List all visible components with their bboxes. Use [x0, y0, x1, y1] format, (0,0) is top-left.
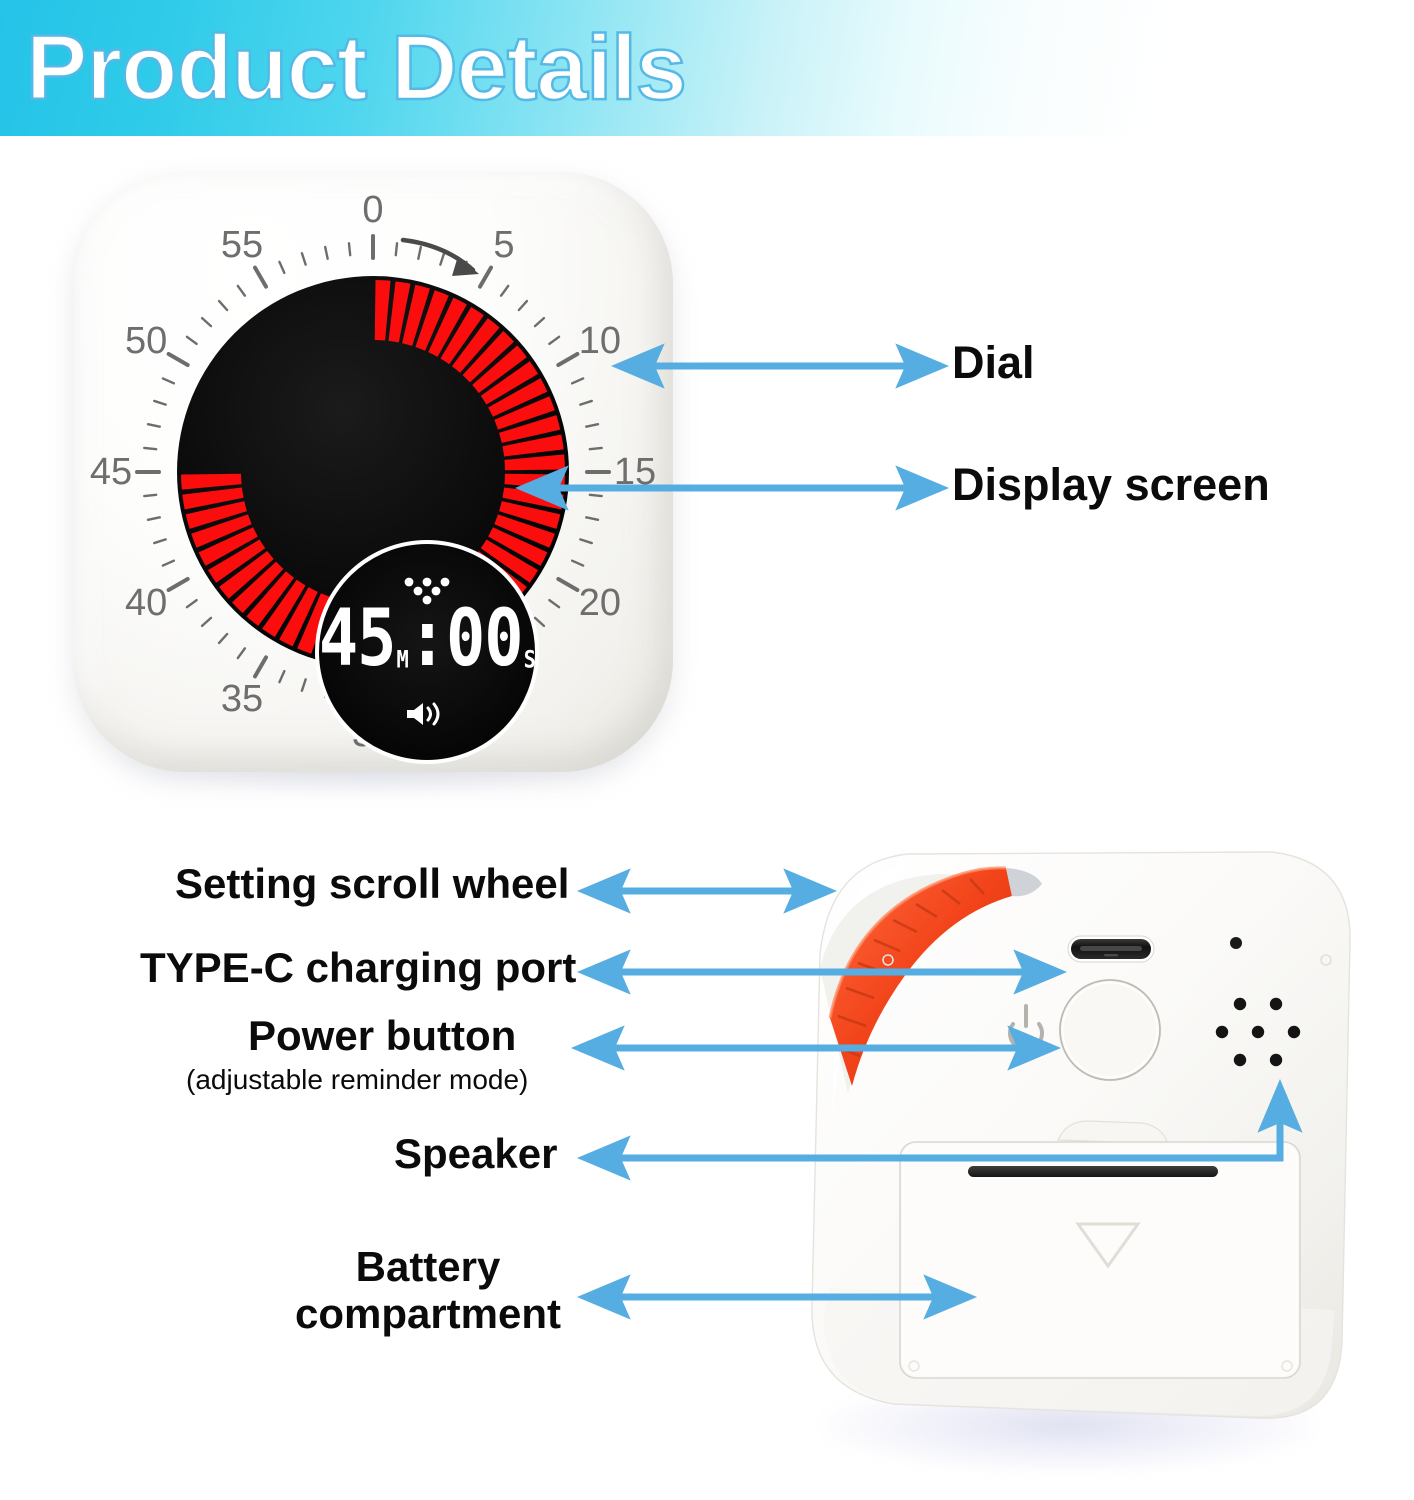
dial-major-tick [255, 268, 266, 287]
dial-minor-tick [154, 401, 165, 405]
lcd-seconds: 00 [446, 600, 523, 678]
callout-label-display-screen: Display screen [952, 461, 1270, 509]
dial-minor-tick [580, 401, 591, 405]
dial-minor-tick [144, 495, 156, 496]
dial-minor-tick [219, 301, 227, 310]
dial-major-tick [558, 579, 577, 590]
callout-label-speaker: Speaker [394, 1132, 557, 1177]
dial-number: 35 [221, 678, 263, 720]
dial-number: 0 [362, 189, 383, 231]
lcd-colon: : [408, 600, 446, 678]
page-header-banner: Product Details [0, 0, 1414, 136]
lcd-minute-unit: M [397, 620, 408, 698]
dial-minor-tick [144, 448, 156, 449]
dial-minor-tick [279, 262, 284, 273]
dial-minor-tick [148, 424, 160, 426]
dial-major-tick [169, 354, 188, 365]
dial-minor-tick [302, 253, 306, 264]
dial-minor-tick [349, 243, 350, 255]
dial-number: 20 [579, 582, 621, 624]
callout-label-scroll-wheel: Setting scroll wheel [175, 862, 569, 907]
dial-minor-tick [279, 671, 284, 682]
dial-minor-tick [238, 286, 245, 296]
dial-minor-tick [440, 253, 444, 264]
dial-minor-tick [549, 337, 559, 344]
dial-minor-tick [590, 448, 602, 449]
dial-minor-tick [219, 634, 227, 643]
dial-major-tick [255, 657, 266, 676]
speaker-volume-icon [403, 699, 451, 729]
back-power-button[interactable] [1060, 980, 1160, 1080]
dial-minor-tick [163, 561, 174, 566]
callout-label-power-button: Power button [248, 1014, 516, 1059]
dial-major-tick [480, 268, 491, 287]
page-title: Product Details [26, 10, 686, 126]
dial-major-tick [169, 579, 188, 590]
callout-label-dial: Dial [952, 339, 1035, 387]
callout-sublabel-power-button: (adjustable reminder mode) [186, 1064, 528, 1096]
dial-number: 5 [493, 224, 514, 266]
dial-minor-tick [535, 618, 544, 626]
dial-minor-tick [519, 301, 527, 310]
dial-number: 45 [90, 451, 132, 493]
dial-minor-tick [302, 679, 306, 690]
dial-minor-tick [590, 495, 602, 496]
back-battery-cover[interactable] [900, 1121, 1300, 1378]
dial-minor-tick [572, 561, 583, 566]
dial-minor-tick [187, 337, 197, 344]
dial-number: 55 [221, 224, 263, 266]
lcd-second-unit: S [524, 620, 535, 698]
dial-minor-tick [202, 318, 211, 326]
dial-minor-tick [396, 243, 397, 255]
dial-minor-tick [148, 517, 160, 519]
dial-number: 40 [125, 582, 167, 624]
dial-number: 15 [614, 451, 656, 493]
back-device-body [790, 818, 1370, 1488]
dial-minor-tick [535, 318, 544, 326]
dial-minor-tick [238, 648, 245, 658]
back-usb-port[interactable] [1068, 936, 1154, 962]
lcd-minutes: 45 [319, 600, 396, 678]
callout-label-typec-port: TYPE-C charging port [140, 946, 576, 991]
reset-pinhole [1230, 937, 1242, 949]
lcd-time-readout: 45M:00S [319, 600, 535, 695]
dial-minor-tick [154, 539, 165, 543]
dial-minor-tick [586, 517, 598, 519]
dial-minor-tick [572, 378, 583, 383]
dial-number: 50 [125, 320, 167, 362]
dial-number: 10 [579, 320, 621, 362]
dial-minor-tick [501, 286, 508, 296]
dial-minor-tick [325, 247, 327, 259]
callout-label-battery: Battery compartment [278, 1243, 578, 1337]
dial-minor-tick [586, 424, 598, 426]
dial-minor-tick [202, 618, 211, 626]
dial-minor-tick [187, 600, 197, 607]
front-lcd[interactable]: 45M:00S [315, 540, 539, 764]
dial-major-tick [558, 354, 577, 365]
front-timer-figure: 0510152025303540455055 45M:00S [57, 168, 689, 828]
dial-minor-tick [580, 539, 591, 543]
dial-minor-tick [163, 378, 174, 383]
rotation-direction-arrow-icon [403, 240, 479, 276]
back-device-figure [790, 818, 1370, 1488]
dial-minor-tick [549, 600, 559, 607]
dial-minor-tick [418, 247, 420, 259]
